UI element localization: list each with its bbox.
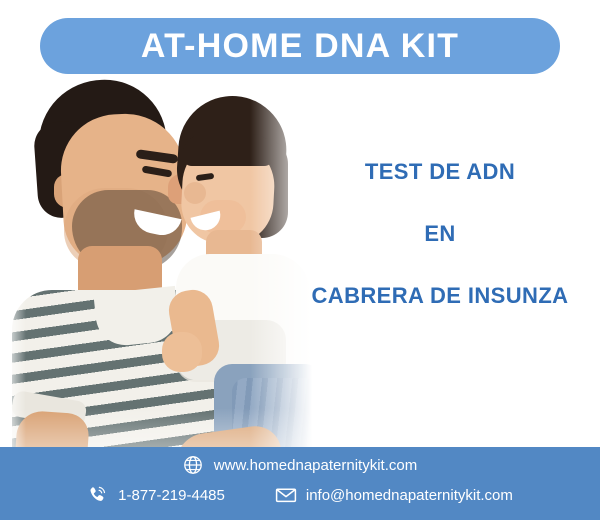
headline-line-preposition: EN (290, 222, 590, 246)
footer-contact-bar: www.homednapaternitykit.com 1-877-219-44… (0, 447, 600, 520)
footer-phone-label: 1-877-219-4485 (118, 488, 225, 503)
father-holding-child-photo (0, 78, 330, 460)
photo-fade-left (0, 78, 26, 460)
footer-email-label: info@homednapaternitykit.com (306, 488, 513, 503)
photo-child-nose (184, 182, 206, 204)
envelope-icon (275, 485, 295, 505)
header-banner: AT-HOME DNA KIT (40, 18, 560, 74)
headline-block: TEST DE ADN EN CABRERA DE INSUNZA (290, 160, 590, 309)
photo-child-hand (162, 332, 202, 372)
globe-icon (183, 455, 203, 475)
headline-line-service: TEST DE ADN (290, 160, 590, 184)
footer-phone[interactable]: 1-877-219-4485 (87, 485, 225, 505)
footer-website[interactable]: www.homednapaternitykit.com (183, 455, 417, 475)
footer-email[interactable]: info@homednapaternitykit.com (275, 485, 513, 505)
footer-row-phone-email: 1-877-219-4485 info@homednapaternitykit.… (0, 485, 600, 505)
phone-icon (87, 485, 107, 505)
headline-line-location: CABRERA DE INSUNZA (290, 284, 590, 308)
footer-row-website: www.homednapaternitykit.com (0, 455, 600, 475)
page-title: AT-HOME DNA KIT (141, 29, 459, 63)
poster-canvas: AT-HOME DNA KIT (0, 0, 600, 520)
footer-website-label: www.homednapaternitykit.com (214, 458, 417, 473)
